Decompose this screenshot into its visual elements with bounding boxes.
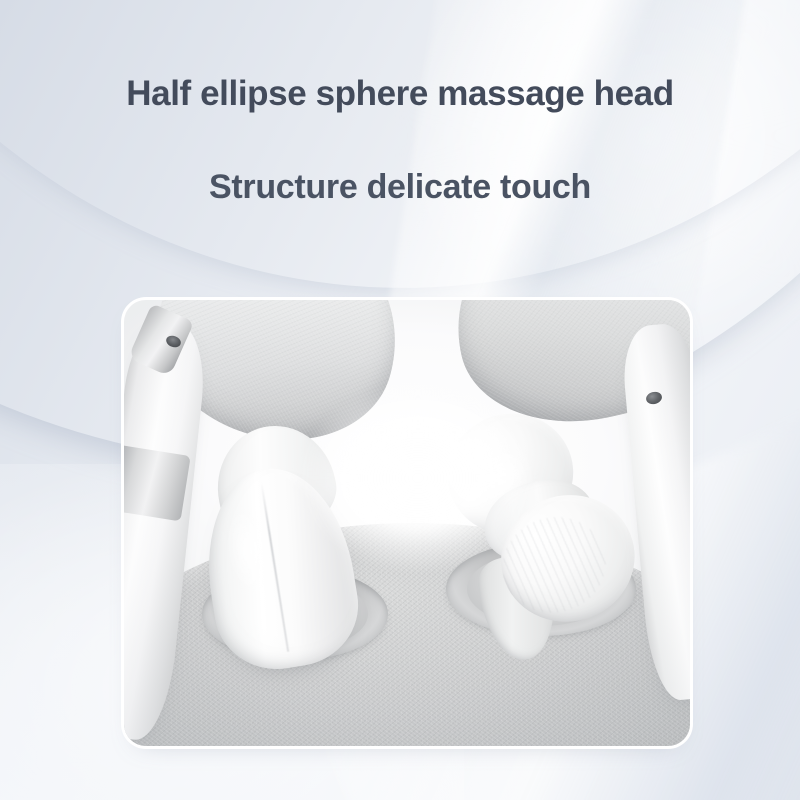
page-title: Half ellipse sphere massage head: [0, 74, 800, 114]
product-feature-poster: Half ellipse sphere massage head Structu…: [0, 0, 800, 800]
product-photo: [124, 300, 690, 746]
frame-rail-left-band: [124, 445, 191, 522]
product-photo-card: [124, 300, 690, 746]
page-subtitle: Structure delicate touch: [0, 168, 800, 207]
